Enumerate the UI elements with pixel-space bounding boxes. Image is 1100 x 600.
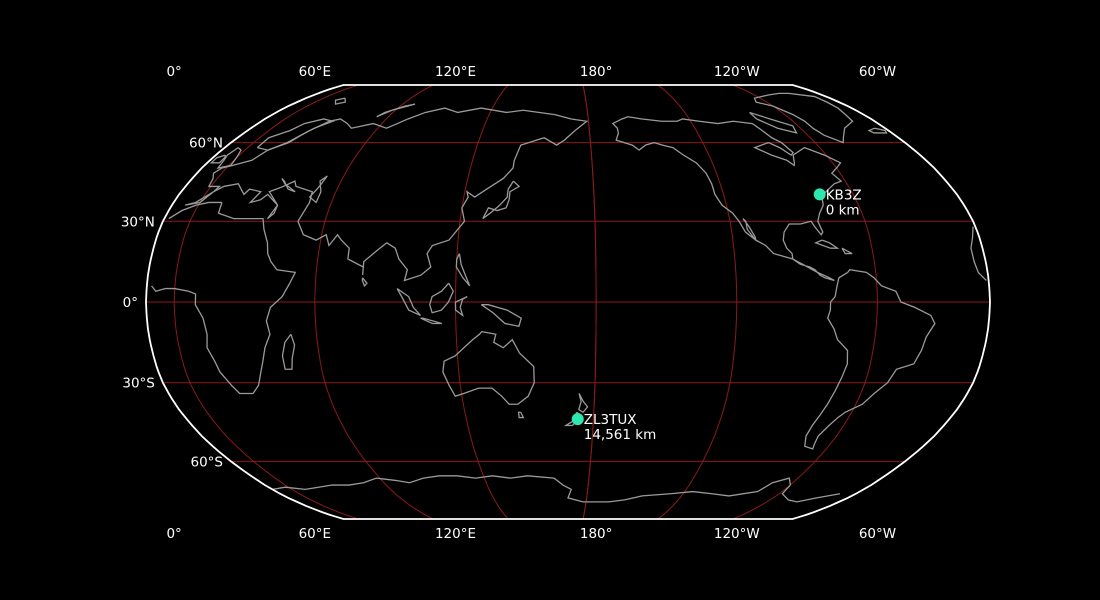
station-marker-zl3tux[interactable] <box>572 413 584 425</box>
lon-label-top-5: 0° <box>166 64 181 80</box>
lon-label-bottom-4: 60°W <box>859 526 896 542</box>
lon-label-top-4: 60°W <box>859 64 896 80</box>
station-distance-kb3z: 0 km <box>826 202 860 218</box>
lon-label-bottom-1: 120°E <box>435 526 476 542</box>
lon-label-bottom-5: 0° <box>166 526 181 542</box>
robinson-map[interactable]: KB3Z0 kmZL3TUX14,561 km 60°E60°E120°E120… <box>0 0 1100 600</box>
lat-label-2: 0° <box>123 295 138 311</box>
station-callsign-zl3tux: ZL3TUX <box>584 412 637 428</box>
lat-label-3: 30°S <box>122 376 155 392</box>
lon-label-top-3: 120°W <box>714 64 760 80</box>
lat-label-4: 60°S <box>190 454 223 470</box>
station-callsign-kb3z: KB3Z <box>826 187 862 203</box>
lon-label-top-0: 60°E <box>299 64 331 80</box>
lat-label-0: 60°N <box>189 136 223 152</box>
lon-label-bottom-3: 120°W <box>714 526 760 542</box>
station-distance-zl3tux: 14,561 km <box>584 427 657 443</box>
station-marker-kb3z[interactable] <box>814 188 826 200</box>
map-figure: Robinson Projection FN20 to RE66HO (243°… <box>0 0 1100 600</box>
lon-label-bottom-0: 60°E <box>299 526 331 542</box>
map-background <box>0 0 1100 600</box>
lon-label-top-2: 180° <box>580 64 613 80</box>
lon-label-top-1: 120°E <box>435 64 476 80</box>
lat-label-1: 30°N <box>121 214 155 230</box>
lon-label-bottom-2: 180° <box>580 526 613 542</box>
